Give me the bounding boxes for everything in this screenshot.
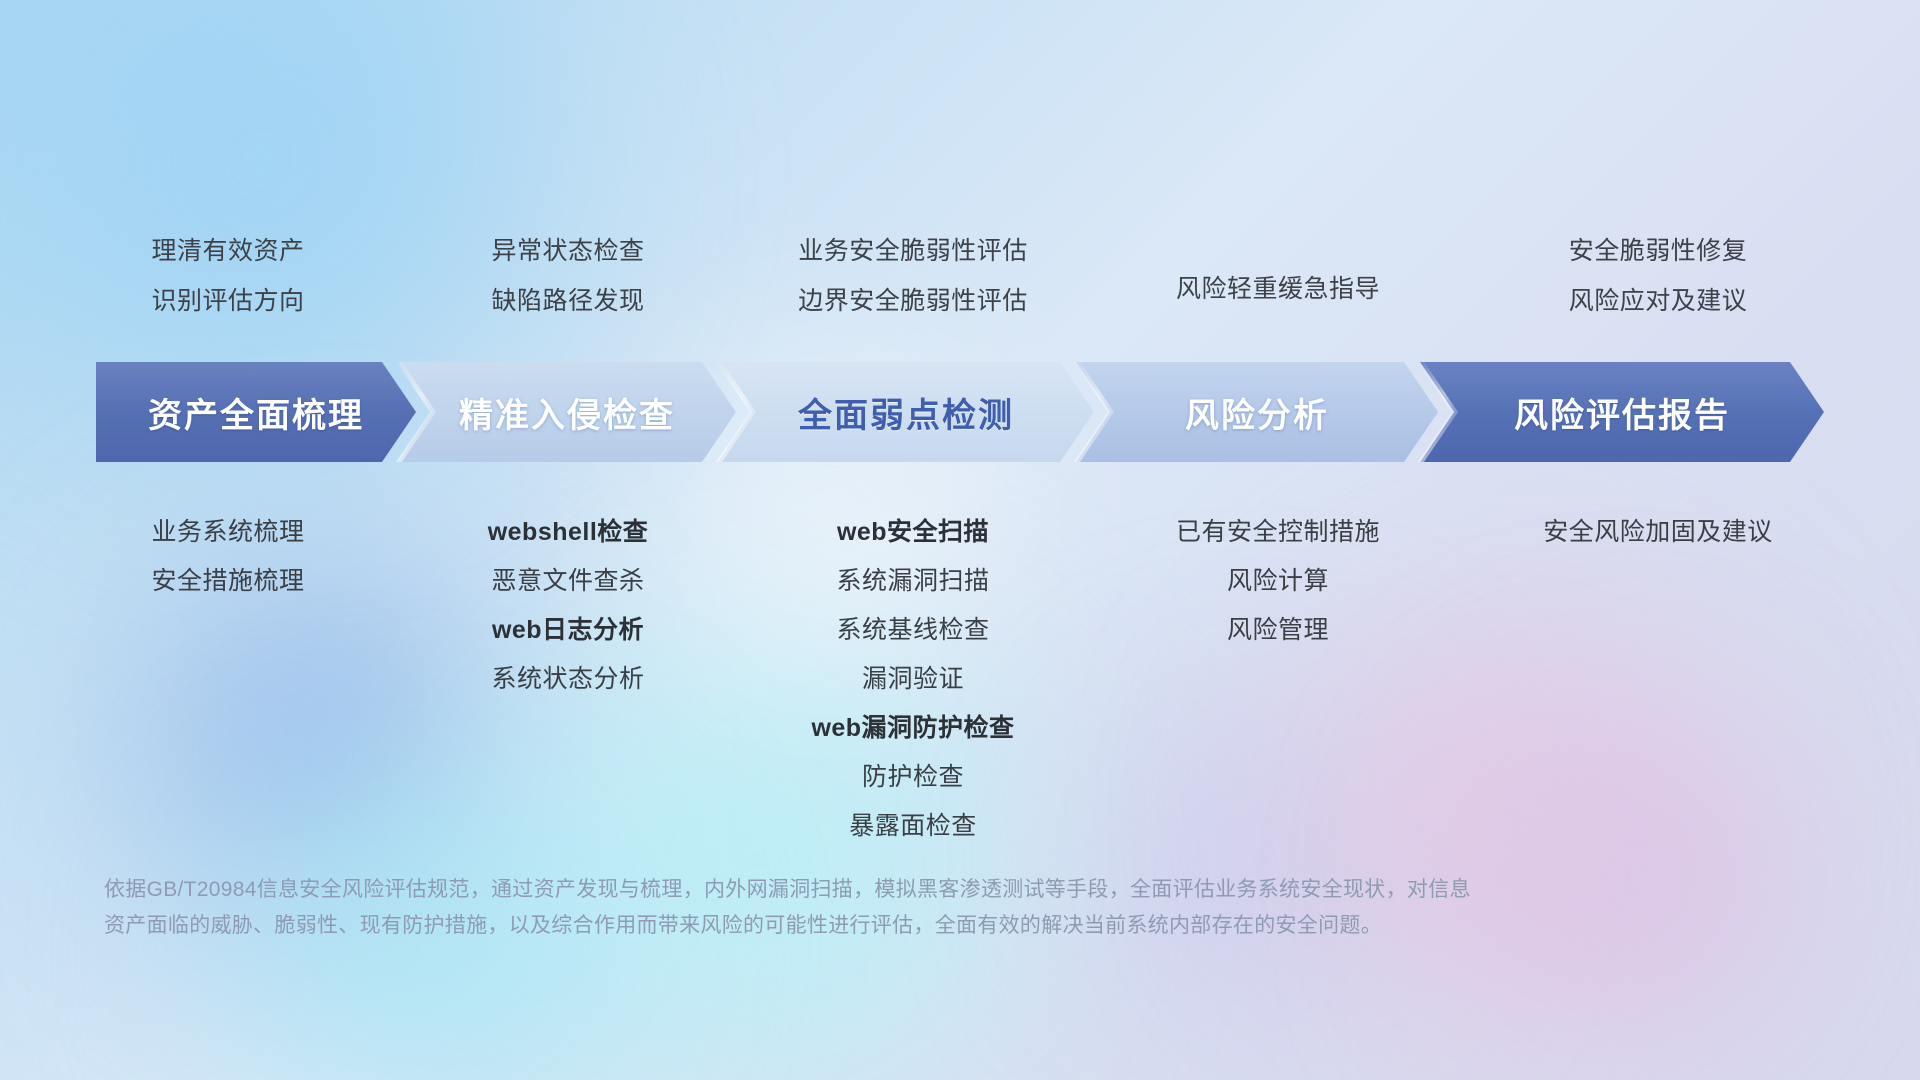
stage-arrow-3-label: 全面弱点检测 xyxy=(798,388,1014,437)
stage-arrow-4[interactable]: 风险分析 xyxy=(1076,362,1438,462)
bottom-captions-stage-4: 已有安全控制措施 风险计算 风险管理 xyxy=(1098,508,1458,851)
top-caption-item: 理清有效资产 xyxy=(151,226,304,276)
stage-arrow-4-label: 风险分析 xyxy=(1185,388,1329,437)
top-captions-stage-5: 安全脆弱性修复 风险应对及建议 xyxy=(1458,226,1858,326)
top-caption-item: 异常状态检查 xyxy=(491,226,644,276)
bottom-caption-item: 风险计算 xyxy=(1227,557,1329,606)
bottom-captions-stage-3: web安全扫描 系统漏洞扫描 系统基线检查 漏洞验证 web漏洞防护检查 防护检… xyxy=(728,508,1098,851)
bottom-caption-item: 系统基线检查 xyxy=(836,606,989,655)
slide-content: 理清有效资产 识别评估方向 异常状态检查 缺陷路径发现 业务安全脆弱性评估 边界… xyxy=(0,0,1920,1080)
bottom-caption-item: web日志分析 xyxy=(492,606,644,655)
top-captions-stage-2: 异常状态检查 缺陷路径发现 xyxy=(408,226,728,326)
stage-arrow-2[interactable]: 精准入侵检查 xyxy=(398,362,736,462)
bottom-caption-item: 风险管理 xyxy=(1227,606,1329,655)
bottom-captions-stage-5: 安全风险加固及建议 xyxy=(1458,508,1858,851)
top-captions-stage-1: 理清有效资产 识别评估方向 xyxy=(48,226,408,326)
bottom-caption-item: 已有安全控制措施 xyxy=(1176,508,1380,557)
footer-line-1: 依据GB/T20984信息安全风险评估规范，通过资产发现与梳理，内外网漏洞扫描，… xyxy=(104,872,1664,908)
top-caption-item: 安全脆弱性修复 xyxy=(1569,226,1748,276)
top-caption-item: 识别评估方向 xyxy=(151,276,304,326)
top-caption-item: 边界安全脆弱性评估 xyxy=(798,276,1028,326)
top-captions-stage-4: 风险轻重缓急指导 xyxy=(1098,226,1458,326)
stage-arrow-3[interactable]: 全面弱点检测 xyxy=(718,362,1094,462)
bottom-captions-stage-2: webshell检查 恶意文件查杀 web日志分析 系统状态分析 xyxy=(408,508,728,851)
bottom-caption-item: 系统漏洞扫描 xyxy=(836,557,989,606)
bottom-caption-item: 系统状态分析 xyxy=(491,655,644,704)
top-caption-item: 业务安全脆弱性评估 xyxy=(798,226,1028,276)
bottom-caption-item: webshell检查 xyxy=(488,508,649,557)
bottom-caption-item: 业务系统梳理 xyxy=(151,508,304,557)
bottom-captions-stage-1: 业务系统梳理 安全措施梳理 xyxy=(48,508,408,851)
bottom-caption-item: 防护检查 xyxy=(862,753,964,802)
bottom-caption-item: 暴露面检查 xyxy=(849,802,977,851)
bottom-caption-item: 恶意文件查杀 xyxy=(491,557,644,606)
top-caption-item: 风险轻重缓急指导 xyxy=(1176,264,1380,314)
bottom-caption-item: web安全扫描 xyxy=(837,508,989,557)
footer-description: 依据GB/T20984信息安全风险评估规范，通过资产发现与梳理，内外网漏洞扫描，… xyxy=(104,872,1664,944)
bottom-caption-row: 业务系统梳理 安全措施梳理 webshell检查 恶意文件查杀 web日志分析 … xyxy=(0,508,1920,851)
process-arrow-band: 资产全面梳理 精准入侵检查 全面弱点检测 风险分析 风险评估报告 xyxy=(0,362,1920,462)
bottom-caption-item: 漏洞验证 xyxy=(862,655,964,704)
top-caption-row: 理清有效资产 识别评估方向 异常状态检查 缺陷路径发现 业务安全脆弱性评估 边界… xyxy=(0,226,1920,326)
bottom-caption-item: web漏洞防护检查 xyxy=(811,704,1014,753)
top-captions-stage-3: 业务安全脆弱性评估 边界安全脆弱性评估 xyxy=(728,226,1098,326)
stage-arrow-1[interactable]: 资产全面梳理 xyxy=(96,362,416,462)
footer-line-2: 资产面临的威胁、脆弱性、现有防护措施，以及综合作用而带来风险的可能性进行评估，全… xyxy=(104,908,1664,944)
bottom-caption-item: 安全风险加固及建议 xyxy=(1543,508,1773,557)
stage-arrow-2-label: 精准入侵检查 xyxy=(459,388,675,437)
slide-canvas: 理清有效资产 识别评估方向 异常状态检查 缺陷路径发现 业务安全脆弱性评估 边界… xyxy=(0,0,1920,1080)
top-caption-item: 风险应对及建议 xyxy=(1569,276,1748,326)
stage-arrow-5[interactable]: 风险评估报告 xyxy=(1420,362,1824,462)
stage-arrow-5-label: 风险评估报告 xyxy=(1514,388,1730,437)
bottom-caption-item: 安全措施梳理 xyxy=(151,557,304,606)
stage-arrow-1-label: 资产全面梳理 xyxy=(148,388,364,437)
top-caption-item: 缺陷路径发现 xyxy=(491,276,644,326)
